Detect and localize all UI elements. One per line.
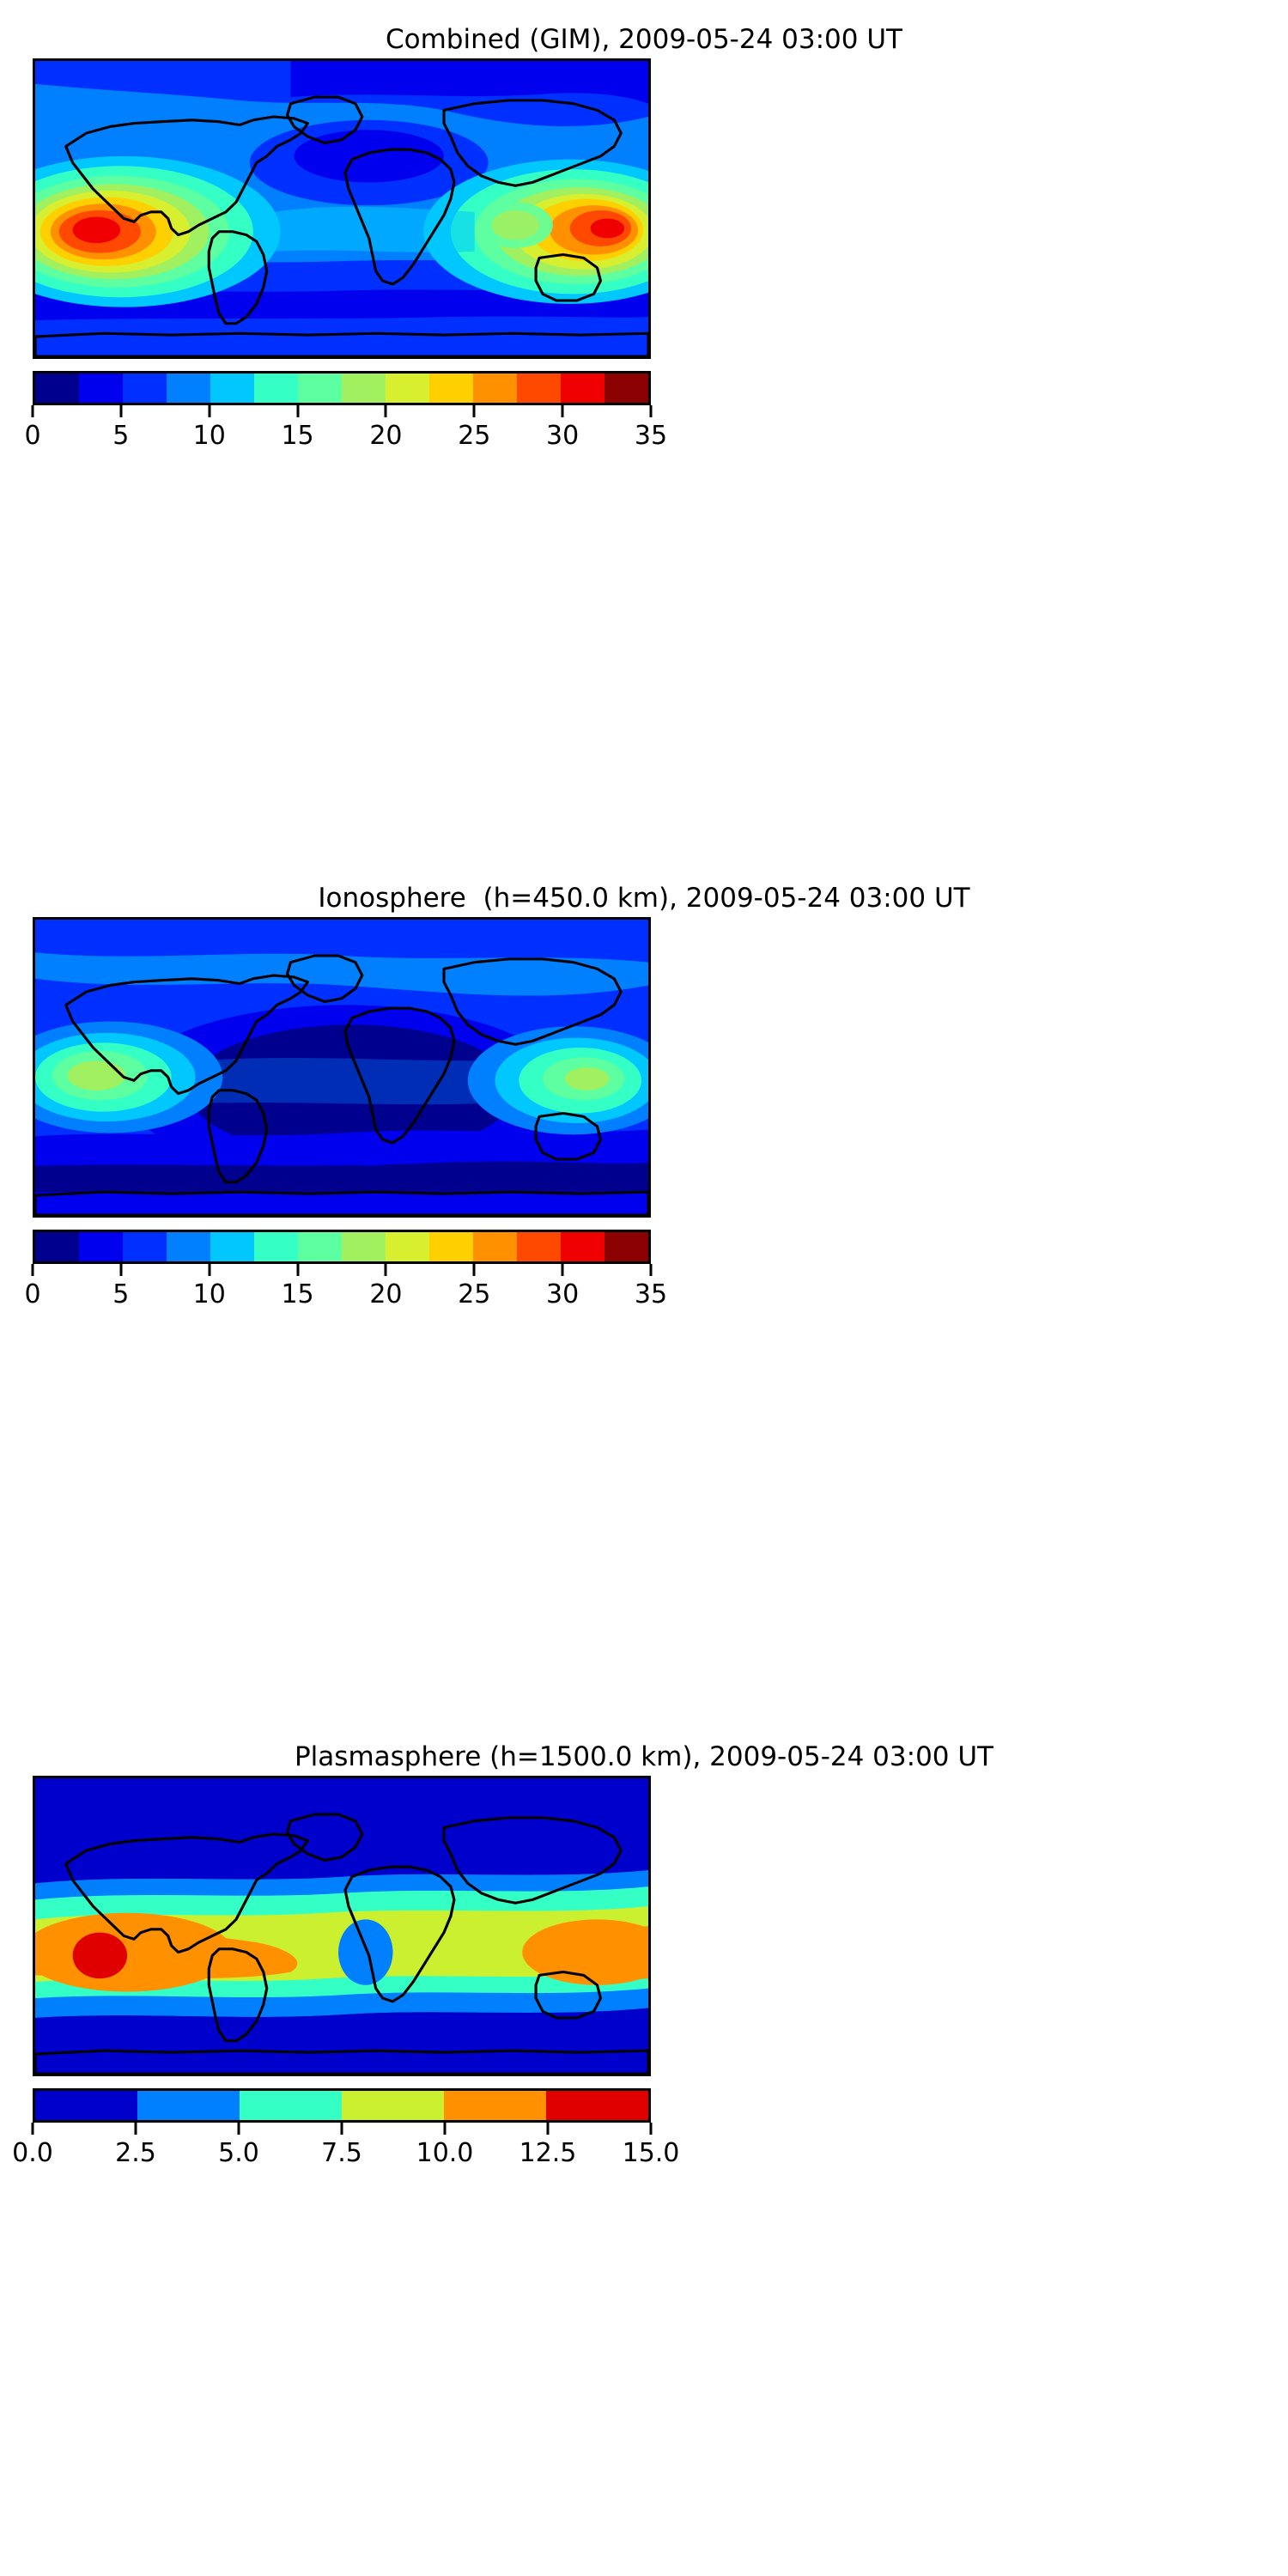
colorbar-tick [208,405,210,417]
colorbar-band [342,1232,386,1261]
colorbar-tick [341,2123,343,2135]
colorbar-tick-label: 0 [24,1279,40,1309]
colorbar-tick-label: 15.0 [623,2138,680,2168]
colorbar-tick [385,405,387,417]
colorbar-gradient-plasmasphere [33,2088,651,2123]
colorbar-tick-label: 10.0 [416,2138,474,2168]
colorbar-band [342,374,386,403]
colorbar-tick [32,1264,34,1276]
colorbar-combined: 05101520253035 [33,371,651,405]
colorbar-tick-label: 2.5 [115,2138,156,2168]
colorbar-gradient-combined [33,371,651,405]
colorbar-band [429,1232,473,1261]
colorbar-tick [135,2123,137,2135]
colorbar-band [473,1232,517,1261]
colorbar-band [35,2091,137,2120]
colorbar-band [254,374,298,403]
panel-title-combined: Combined (GIM), 2009-05-24 03:00 UT [0,24,1288,55]
colorbar-band [298,374,342,403]
colorbar-tick-label: 7.5 [321,2138,362,2168]
panel-title-ionosphere: Ionosphere (h=450.0 km), 2009-05-24 03:0… [0,883,1288,914]
colorbar-band [254,1232,298,1261]
map-image-combined [35,61,648,356]
colorbar-band [605,374,648,403]
colorbar-band [342,2091,444,2120]
colorbar-tick [444,2123,447,2135]
colorbar-tick [238,2123,240,2135]
colorbar-tick [119,405,122,417]
colorbar-band [473,374,517,403]
colorbar-tick-label: 30 [546,421,579,451]
colorbar-band [517,1232,561,1261]
colorbar-band [35,374,79,403]
colorbar-tick-label: 20 [369,1279,402,1309]
colorbar-tick-label: 25 [458,1279,490,1309]
colorbar-tick-label: 0.0 [12,2138,53,2168]
colorbar-band [123,1232,167,1261]
map-axes-plasmasphere [33,1776,651,2076]
colorbar-tick-label: 12.5 [519,2138,577,2168]
colorbar-band [444,2091,546,2120]
colorbar-tick [385,1264,387,1276]
colorbar-tick-label: 5 [112,1279,129,1309]
colorbar-band [137,2091,240,2120]
colorbar-tick-label: 35 [635,1279,667,1309]
colorbar-band [546,2091,648,2120]
colorbar-band [386,374,429,403]
colorbar-band [298,1232,342,1261]
colorbar-band [429,374,473,403]
colorbar-band [561,1232,605,1261]
colorbar-band [79,374,123,403]
colorbar-tick-label: 5 [112,421,129,451]
colorbar-band [561,374,605,403]
colorbar-tick [296,405,299,417]
colorbar-tick-label: 35 [635,421,667,451]
colorbar-tick [473,1264,476,1276]
colorbar-tick-label: 0 [24,421,40,451]
map-image-plasmasphere [35,1778,648,2074]
colorbar-tick-label: 20 [369,421,402,451]
colorbar-tick-label: 10 [193,421,226,451]
colorbar-tick-label: 10 [193,1279,226,1309]
colorbar-ionosphere: 05101520253035 [33,1230,651,1264]
map-image-ionosphere [35,920,648,1215]
colorbar-band [35,1232,79,1261]
colorbar-tick-label: 15 [281,1279,313,1309]
colorbar-gradient-ionosphere [33,1230,651,1264]
colorbar-tick [650,1264,653,1276]
figure-canvas: Combined (GIM), 2009-05-24 03:00 UT [0,0,1288,2576]
colorbar-band [605,1232,648,1261]
map-axes-combined [33,58,651,359]
colorbar-band [210,1232,254,1261]
colorbar-tick-label: 25 [458,421,490,451]
colorbar-tick-label: 5.0 [218,2138,259,2168]
colorbar-band [210,374,254,403]
colorbar-band [386,1232,429,1261]
colorbar-band [167,1232,210,1261]
colorbar-band [240,2091,342,2120]
colorbar-tick [650,2123,653,2135]
map-axes-ionosphere [33,917,651,1218]
colorbar-band [167,374,210,403]
colorbar-tick [562,405,564,417]
ionosphere-panel: Ionosphere (h=450.0 km), 2009-05-24 03:0… [0,859,1288,1717]
colorbar-band [123,374,167,403]
colorbar-tick [296,1264,299,1276]
panel-title-plasmasphere: Plasmasphere (h=1500.0 km), 2009-05-24 0… [0,1741,1288,1772]
colorbar-tick [547,2123,550,2135]
colorbar-tick [119,1264,122,1276]
combined-gim-panel: Combined (GIM), 2009-05-24 03:00 UT [0,0,1288,859]
colorbar-tick-label: 15 [281,421,313,451]
plasmasphere-panel: Plasmasphere (h=1500.0 km), 2009-05-24 0… [0,1717,1288,2576]
colorbar-tick-label: 30 [546,1279,579,1309]
colorbar-tick [562,1264,564,1276]
colorbar-tick [208,1264,210,1276]
colorbar-tick [473,405,476,417]
colorbar-plasmasphere: 0.02.55.07.510.012.515.0 [33,2088,651,2123]
colorbar-band [517,374,561,403]
colorbar-tick [32,2123,34,2135]
colorbar-tick [650,405,653,417]
colorbar-band [79,1232,123,1261]
colorbar-tick [32,405,34,417]
